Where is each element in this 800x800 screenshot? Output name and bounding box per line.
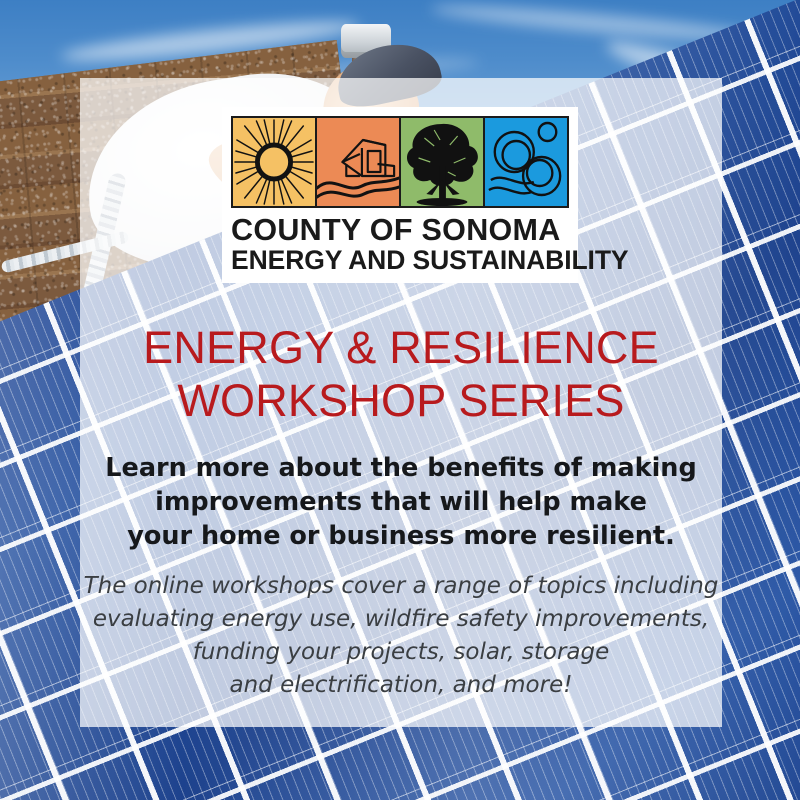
subhead-line-2: improvements that will help make xyxy=(80,486,722,520)
house-icon-art xyxy=(317,118,399,206)
logo-org-line-1: COUNTY OF SONOMA xyxy=(231,215,569,246)
logo-wordmark: COUNTY OF SONOMA ENERGY AND SUSTAINABILI… xyxy=(231,215,569,275)
water-rings-icon xyxy=(485,118,567,206)
body-line-3: funding your projects, solar, storage xyxy=(80,636,722,669)
poster-headline: ENERGY & RESILIENCE WORKSHOP SERIES xyxy=(80,322,722,427)
logo-icon-strip xyxy=(231,116,569,208)
headline-line-2: WORKSHOP SERIES xyxy=(80,375,722,428)
poster-subheading: Learn more about the benefits of making … xyxy=(80,452,722,554)
house-icon xyxy=(317,118,401,206)
water-rings-icon-art xyxy=(485,118,567,206)
subhead-line-3: your home or business more resilient. xyxy=(80,520,722,554)
sun-icon-art xyxy=(233,118,315,206)
sun-icon xyxy=(233,118,317,206)
tree-icon xyxy=(401,118,485,206)
body-line-2: evaluating energy use, wildfire safety i… xyxy=(80,603,722,636)
subhead-line-1: Learn more about the benefits of making xyxy=(80,452,722,486)
body-line-1: The online workshops cover a range of to… xyxy=(80,570,722,603)
tree-icon-art xyxy=(401,118,483,206)
county-of-sonoma-logo: COUNTY OF SONOMA ENERGY AND SUSTAINABILI… xyxy=(222,107,578,283)
poster-canvas: COUNTY OF SONOMA ENERGY AND SUSTAINABILI… xyxy=(0,0,800,800)
body-line-4: and electrification, and more! xyxy=(80,669,722,702)
logo-org-line-2: ENERGY AND SUSTAINABILITY xyxy=(231,246,569,275)
headline-line-1: ENERGY & RESILIENCE xyxy=(80,322,722,375)
poster-body-text: The online workshops cover a range of to… xyxy=(80,570,722,702)
